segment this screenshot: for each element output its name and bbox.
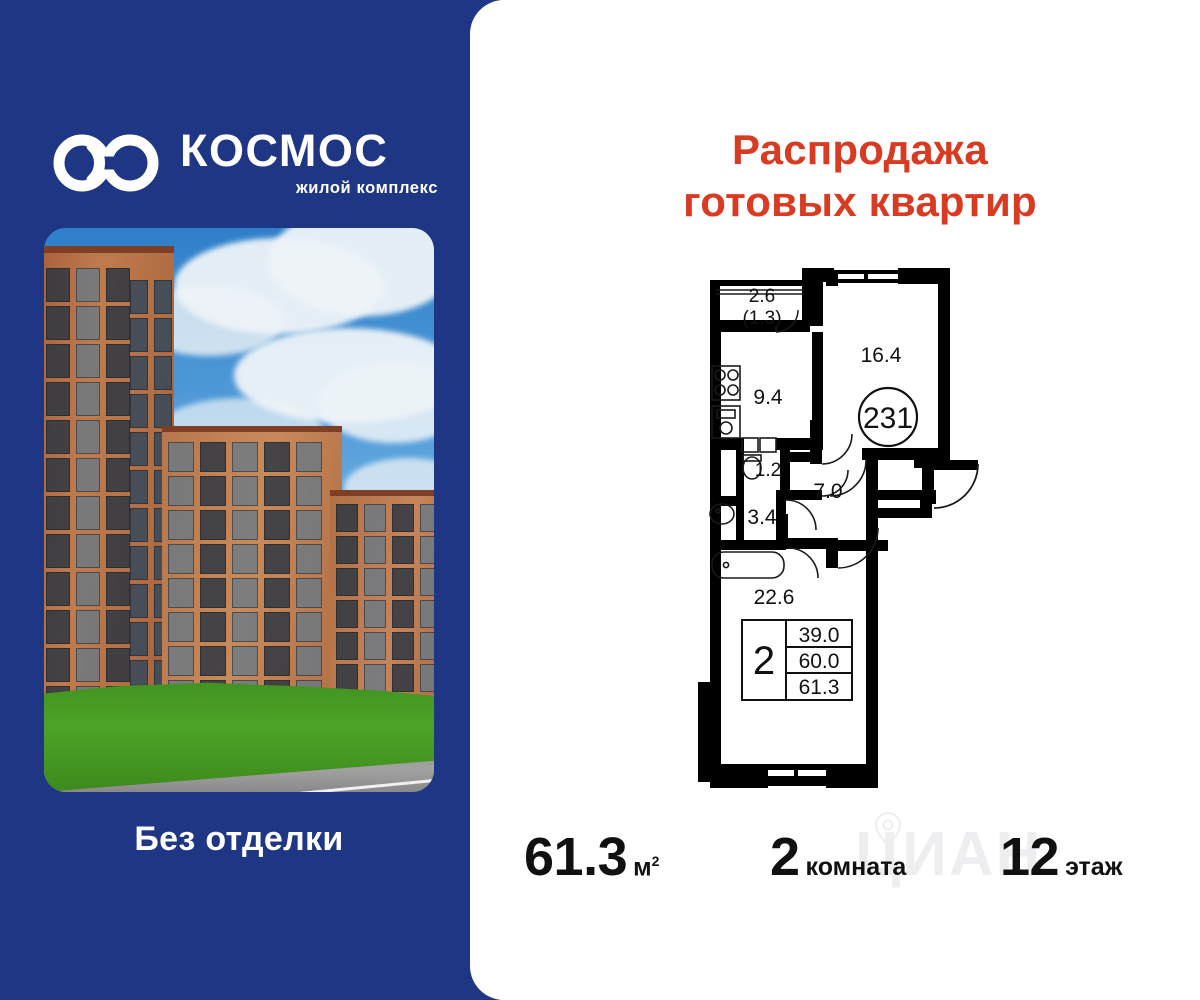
building-roof [44,246,174,253]
label-bathroom-area: 3.4 [747,506,777,529]
building-roof [330,490,434,496]
label-wc-area: 1.2 [755,460,781,481]
info-rooms-count: 2 [753,639,775,683]
stat-area-unit-sup: 2 [652,853,660,869]
stat-area: 61.3 м2 [524,826,659,888]
info-total-no-balcony: 60.0 [799,650,840,673]
stat-area-unit-text: м [633,853,652,881]
page-title: Распродажа готовых квартир [560,124,1160,228]
infinity-loops-icon [52,132,160,194]
stat-floor-value: 12 [1000,826,1059,888]
floorplan-svg: 2.6 (1.3) 16.4 9.4 1.2 7.0 3.4 22.6 231 [676,252,1006,807]
stat-rooms-unit: комната [806,853,907,882]
brand-logo: КОСМОС жилой комплекс [52,126,442,206]
label-kitchen-area: 9.4 [753,386,783,409]
building-roof [162,426,342,432]
label-livingroom-area: 16.4 [861,344,902,367]
headline-line-1: Распродажа [732,126,988,173]
label-balcony-counted: (1.3) [742,308,781,329]
stat-rooms-value: 2 [770,826,800,888]
brand-subtitle: жилой комплекс [180,179,442,198]
info-living-area: 39.0 [799,624,840,647]
info-total-area: 61.3 [799,676,840,699]
apartment-number: 231 [863,402,913,435]
plan-info-box: 2 39.0 60.0 61.3 [742,620,852,700]
label-hall-area: 7.0 [813,480,842,503]
headline-line-2: готовых квартир [560,176,1160,228]
flyer-root: КОСМОС жилой комплекс [0,0,1200,1000]
residential-complex-photo [44,228,434,792]
footer-stats: 61.3 м2 2 комната 12 этаж [500,812,1200,902]
stat-rooms: 2 комната [770,826,906,888]
stat-floor-unit: этаж [1065,853,1122,882]
finishing-caption: Без отделки [44,820,434,859]
label-lowerroom-area: 22.6 [754,586,795,609]
stat-area-value: 61.3 [524,826,627,888]
brand-name: КОСМОС [180,126,442,176]
floorplan: 2.6 (1.3) 16.4 9.4 1.2 7.0 3.4 22.6 231 [676,252,1006,807]
stat-floor: 12 этаж [1000,826,1122,888]
stat-area-unit: м2 [633,853,659,882]
apartment-number-badge: 231 [859,388,917,446]
label-balcony-area: 2.6 [749,286,775,307]
